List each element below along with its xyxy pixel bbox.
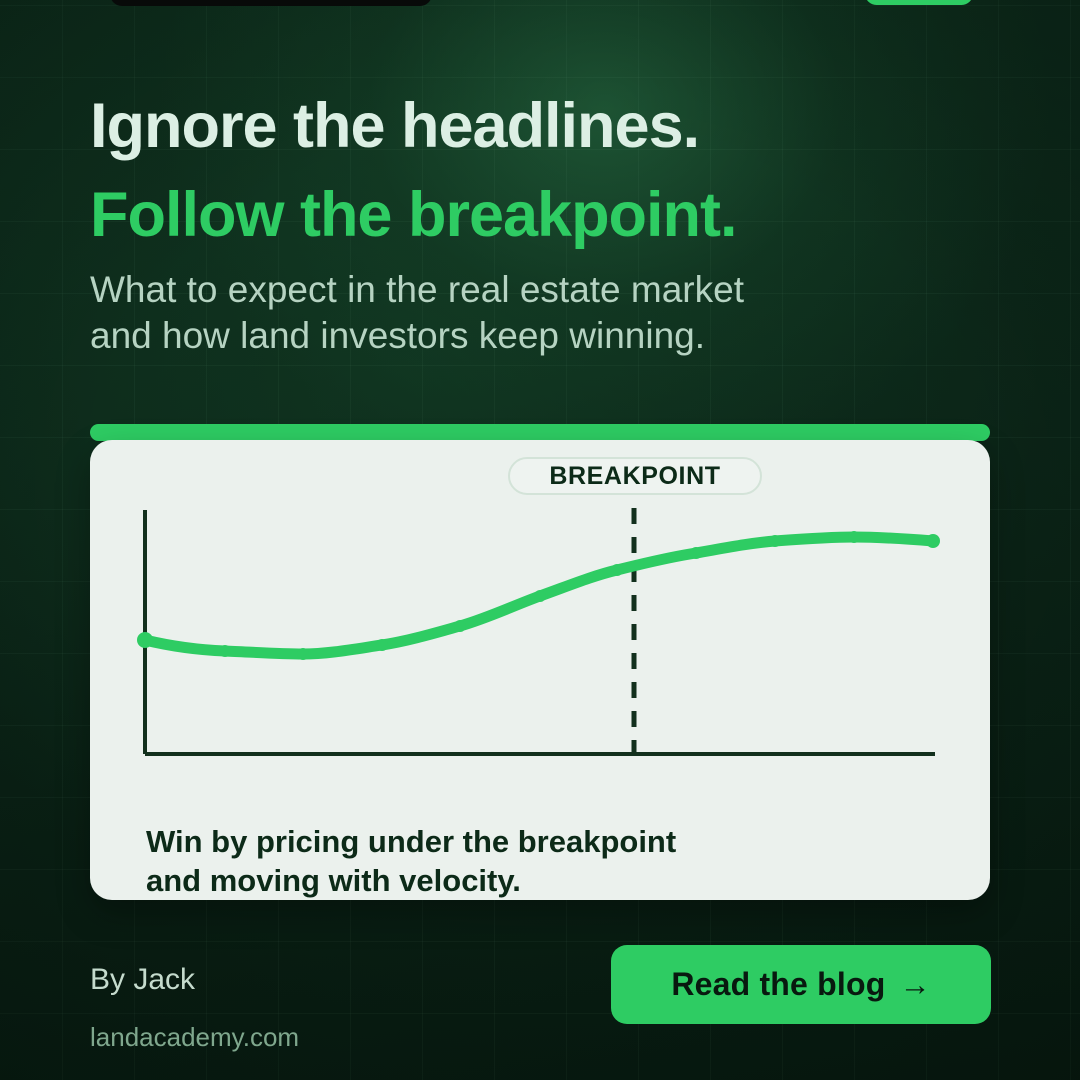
card-caption-line-1: Win by pricing under the breakpoint bbox=[146, 822, 946, 861]
top-green-chip-cutoff[interactable] bbox=[865, 0, 973, 5]
social-card-canvas: Ignore the headlines. Follow the breakpo… bbox=[0, 0, 1080, 1080]
headline-block: Ignore the headlines. Follow the breakpo… bbox=[90, 82, 1050, 261]
card-caption: Win by pricing under the breakpoint and … bbox=[146, 822, 946, 900]
breakpoint-line-chart bbox=[90, 440, 990, 800]
arrow-right-icon: → bbox=[899, 969, 930, 1000]
subheadline-block: What to expect in the real estate market… bbox=[90, 267, 970, 360]
author-byline: By Jack bbox=[90, 963, 195, 997]
chart-data-points bbox=[137, 531, 940, 660]
headline-line-1: Ignore the headlines. bbox=[90, 82, 1050, 171]
card-caption-line-2: and moving with velocity. bbox=[146, 861, 946, 900]
subheadline-line-2: and how land investors keep winning. bbox=[90, 313, 970, 359]
subheadline-line-1: What to expect in the real estate market bbox=[90, 267, 970, 313]
top-dark-chip-cutoff[interactable] bbox=[110, 0, 432, 6]
site-url[interactable]: landacademy.com bbox=[90, 1022, 299, 1053]
headline-line-2: Follow the breakpoint. bbox=[90, 171, 1050, 260]
read-the-blog-button[interactable]: Read the blog → bbox=[611, 945, 991, 1024]
cta-label: Read the blog bbox=[671, 966, 885, 1003]
card-accent-bar bbox=[90, 424, 990, 441]
chart-card: BREAKPOINT bbox=[90, 440, 990, 900]
